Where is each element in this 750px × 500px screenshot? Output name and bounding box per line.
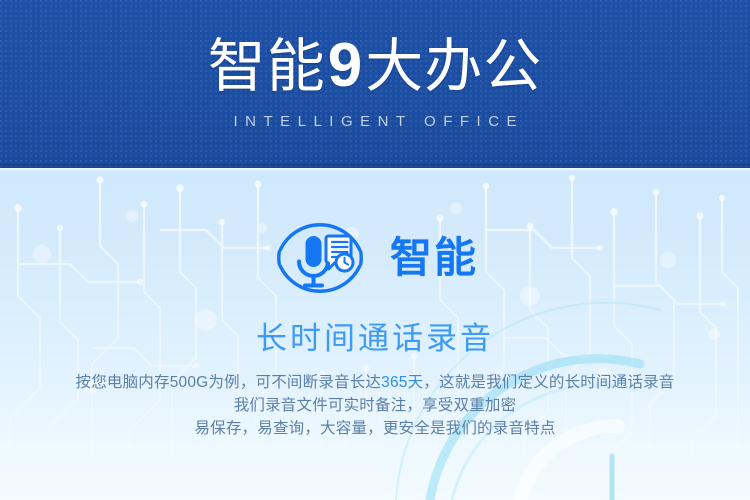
description-line-1-part-2: ，这就是我们定义的长时间通话录音 [423,374,674,391]
feature-badge-label: 智能 [390,237,478,279]
page-title-suffix: 大办公 [365,34,542,99]
feature-section: 智能 长时间通话录音 按您电脑内存500G为例，可不间断录音长达365天，这就是… [0,168,750,500]
feature-title: 长时间通话录音 [0,323,750,354]
description-line-2: 我们录音文件可实时备注，享受双重加密 [0,394,750,417]
header-band: 智能9大办公 INTELLIGENT OFFICE [0,0,750,168]
description-line-1: 按您电脑内存500G为例，可不间断录音长达365天，这就是我们定义的长时间通话录… [0,371,750,394]
description-line-3: 易保存，易查询，大容量，更安全是我们的录音特点 [0,417,750,440]
feature-header-row: 智能 [0,210,750,306]
feature-description: 按您电脑内存500G为例，可不间断录音长达365天，这就是我们定义的长时间通话录… [0,371,750,440]
promo-banner: 智能9大办公 INTELLIGENT OFFICE [0,0,750,500]
header-content: 智能9大办公 INTELLIGENT OFFICE [0,0,750,168]
page-title: 智能9大办公 [208,35,543,97]
page-title-prefix: 智能 [208,34,326,99]
description-highlight-days: 365天 [381,374,423,391]
description-line-1-part-1: 按您电脑内存500G为例，可不间断录音长达 [76,374,382,391]
microphone-document-clock-icon [272,210,368,306]
page-subtitle: INTELLIGENT OFFICE [226,114,524,129]
page-title-number: 9 [326,31,365,100]
